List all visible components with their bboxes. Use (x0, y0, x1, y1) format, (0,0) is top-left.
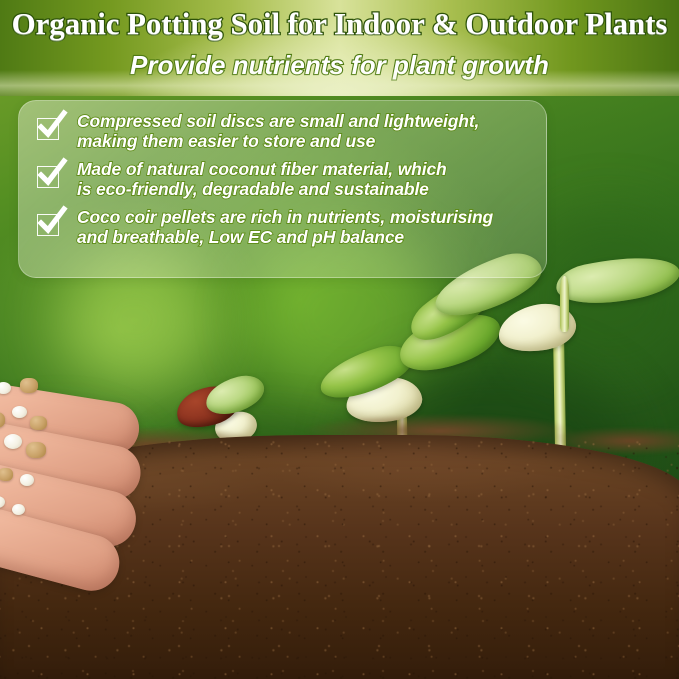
checkbox-checked-icon (35, 114, 65, 144)
page-title: Organic Potting Soil for Indoor & Outdoo… (0, 6, 679, 42)
header-band: Organic Potting Soil for Indoor & Outdoo… (0, 0, 679, 96)
soil-pellet (4, 434, 22, 449)
soil-pellet (26, 442, 46, 458)
feature-bullet-text: Made of natural coconut fiber material, … (77, 159, 447, 199)
page-subtitle: Provide nutrients for plant growth (0, 50, 679, 81)
feature-bullet-line1: Compressed soil discs are small and ligh… (77, 111, 479, 131)
soil-pellet (30, 416, 47, 430)
soil-pellet (20, 378, 38, 393)
hand-with-pellets (0, 372, 230, 622)
feature-bullet-line1: Made of natural coconut fiber material, … (77, 159, 447, 179)
feature-bullet: Made of natural coconut fiber material, … (31, 159, 534, 199)
feature-bullet-line2: and breathable, Low EC and pH balance (77, 227, 404, 247)
feature-bullet-text: Compressed soil discs are small and ligh… (77, 111, 479, 151)
soil-pellet (12, 406, 27, 418)
checkbox-checked-icon (35, 162, 65, 192)
feature-bullet-text: Coco coir pellets are rich in nutrients,… (77, 207, 493, 247)
product-infographic: Organic Potting Soil for Indoor & Outdoo… (0, 0, 679, 679)
soil-pellet (0, 468, 13, 481)
soil-pellet (20, 474, 34, 486)
feature-bullet-line2: is eco-friendly, degradable and sustaina… (77, 179, 429, 199)
feature-bullet-line1: Coco coir pellets are rich in nutrients,… (77, 207, 493, 227)
feature-panel: Compressed soil discs are small and ligh… (18, 100, 547, 278)
checkbox-checked-icon (35, 210, 65, 240)
feature-bullet: Compressed soil discs are small and ligh… (31, 111, 534, 151)
stem-upper (560, 276, 569, 332)
soil-pellet (12, 504, 25, 515)
feature-bullet-line2: making them easier to store and use (77, 131, 375, 151)
feature-bullet: Coco coir pellets are rich in nutrients,… (31, 207, 534, 247)
